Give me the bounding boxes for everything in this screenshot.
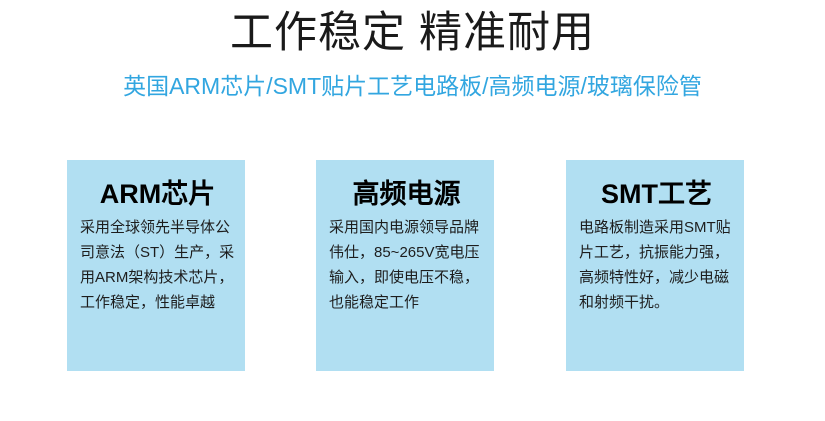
promo-banner: 工作稳定 精准耐用 英国ARM芯片/SMT贴片工艺电路板/高频电源/玻璃保险管 … <box>0 0 825 421</box>
feature-card-body: 采用全球领先半导体公司意法（ST）生产，采用ARM架构技术芯片，工作稳定，性能卓… <box>80 215 235 315</box>
feature-card-list: ARM芯片 采用全球领先半导体公司意法（ST）生产，采用ARM架构技术芯片，工作… <box>67 160 745 371</box>
feature-card-title: SMT工艺 <box>579 177 734 211</box>
feature-card-body: 电路板制造采用SMT贴片工艺，抗振能力强，高频特性好，减少电磁和射频干扰。 <box>579 215 734 315</box>
feature-card-arm-chip: ARM芯片 采用全球领先半导体公司意法（ST）生产，采用ARM架构技术芯片，工作… <box>67 160 245 371</box>
feature-card-title: 高频电源 <box>329 177 484 211</box>
page-title: 工作稳定 精准耐用 <box>0 6 825 60</box>
page-subtitle: 英国ARM芯片/SMT贴片工艺电路板/高频电源/玻璃保险管 <box>0 70 825 102</box>
feature-card-body: 采用国内电源领导品牌伟仕，85~265V宽电压输入，即使电压不稳，也能稳定工作 <box>329 215 484 315</box>
feature-card-smt-process: SMT工艺 电路板制造采用SMT贴片工艺，抗振能力强，高频特性好，减少电磁和射频… <box>566 160 744 371</box>
feature-card-high-frequency-power: 高频电源 采用国内电源领导品牌伟仕，85~265V宽电压输入，即使电压不稳，也能… <box>316 160 494 371</box>
feature-card-title: ARM芯片 <box>80 177 235 211</box>
